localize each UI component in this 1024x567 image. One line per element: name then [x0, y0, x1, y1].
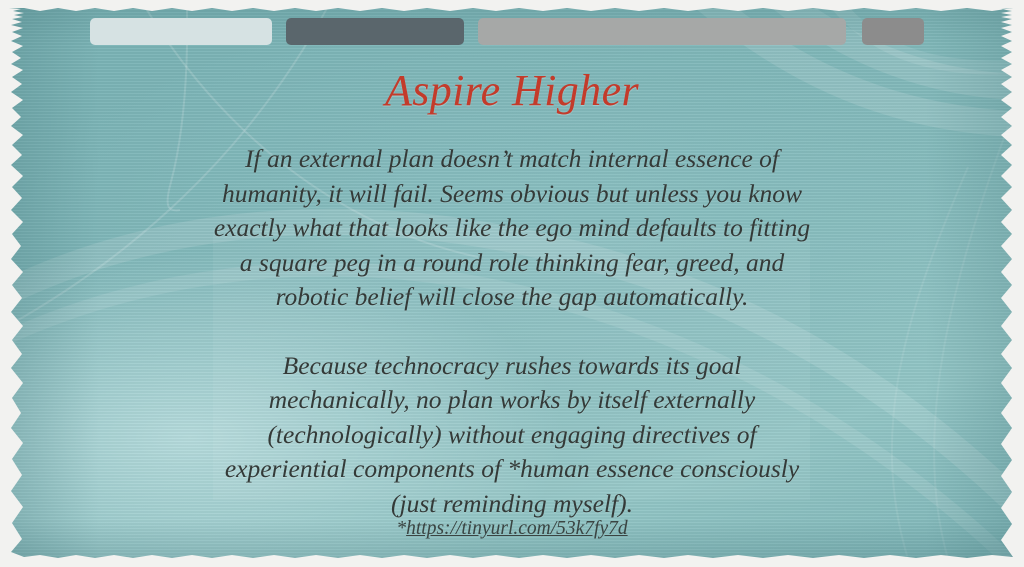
- topbar-dark-block[interactable]: [286, 18, 464, 45]
- tinyurl-link[interactable]: https://tinyurl.com/53k7fy7d: [406, 518, 628, 539]
- paragraph-one: If an external plan doesn’t match intern…: [212, 142, 812, 315]
- footer: *https://tinyurl.com/53k7fy7d: [212, 518, 812, 540]
- topbar-gray-block[interactable]: [478, 18, 846, 45]
- body-text: If an external plan doesn’t match intern…: [212, 142, 812, 521]
- footnote-asterisk: *: [396, 518, 406, 539]
- page-title: Aspire Higher: [0, 66, 1024, 115]
- topbar-small-gray-block[interactable]: [862, 18, 924, 45]
- paragraph-spacer: [212, 315, 812, 349]
- topbar-light-block[interactable]: [90, 18, 272, 45]
- top-bar: [0, 0, 1024, 56]
- slide-canvas: Aspire Higher If an external plan doesn’…: [0, 0, 1024, 567]
- paragraph-two: Because technocracy rushes towards its g…: [212, 349, 812, 522]
